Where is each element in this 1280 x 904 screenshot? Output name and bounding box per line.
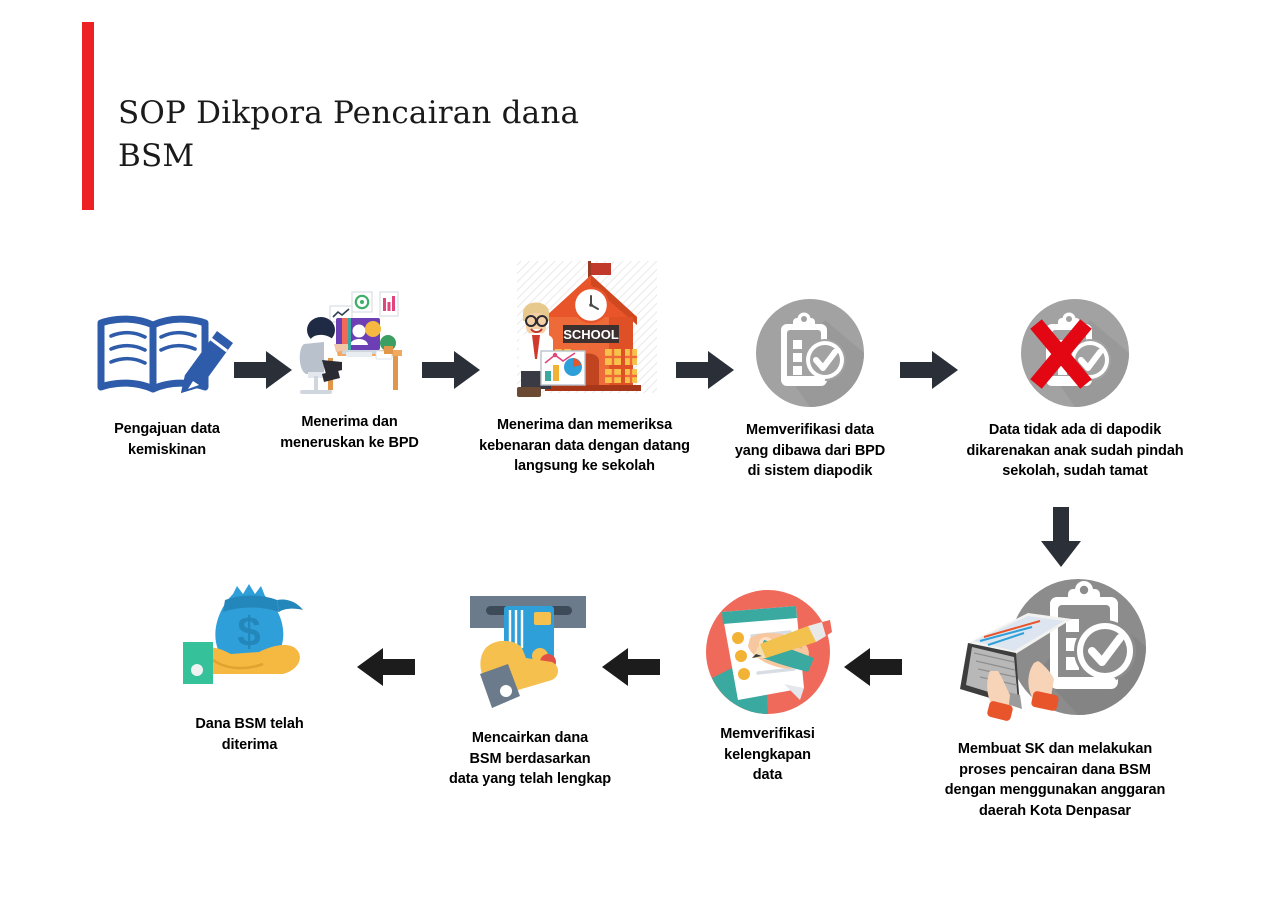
- svg-text:SCHOOL: SCHOOL: [563, 327, 619, 342]
- flow-step-5-label: Data tidak ada di dapodik dikarenakan an…: [925, 420, 1225, 482]
- arrow-6-7: [842, 645, 904, 689]
- flow-step-6: Membuat SK dan melakukan proses pencaira…: [905, 575, 1205, 821]
- flow-step-8-label: Mencairkan dana BSM berdasarkan data yan…: [425, 728, 635, 790]
- arrow-8-9: [355, 645, 417, 689]
- laptop-clipboard-check-icon: [950, 575, 1160, 735]
- school-building-icon: SCHOOL: [501, 255, 669, 405]
- open-book-pencil-icon: [93, 305, 241, 405]
- title-accent-bar: [82, 22, 94, 210]
- svg-text:$: $: [237, 608, 260, 655]
- flow-step-4-label: Memverifikasi data yang dibawa dari BPD …: [710, 420, 910, 482]
- clipboard-check-circle-icon: [755, 298, 865, 408]
- atm-card-hand-icon: [464, 592, 596, 712]
- flow-step-6-label: Membuat SK dan melakukan proses pencaira…: [905, 739, 1205, 821]
- flow-step-7-label: Memverifikasi kelengkapan data: [700, 724, 835, 786]
- flow-step-9: $ Dana BSM telah diterima: [172, 572, 327, 755]
- flow-step-1-label: Pengajuan data kemiskinan: [72, 419, 262, 460]
- arrow-5-6: [1038, 505, 1084, 569]
- checklist-pencil-circle-icon: [704, 588, 832, 716]
- flow-step-8: Mencairkan dana BSM berdasarkan data yan…: [425, 592, 635, 790]
- flow-step-9-label: Dana BSM telah diterima: [172, 714, 327, 755]
- flow-step-3-label: Menerima dan memeriksa kebenaran data de…: [452, 415, 717, 477]
- flow-step-2: Menerima dan meneruskan ke BPD: [262, 288, 437, 453]
- desk-workstation-icon: [290, 288, 410, 400]
- flow-step-2-label: Menerima dan meneruskan ke BPD: [262, 412, 437, 453]
- flow-step-5: Data tidak ada di dapodik dikarenakan an…: [925, 298, 1225, 482]
- flow-step-4: Memverifikasi data yang dibawa dari BPD …: [710, 298, 910, 482]
- money-bag-hand-icon: $: [175, 572, 325, 700]
- clipboard-check-rejected-icon: [1020, 298, 1130, 408]
- flow-step-7: Memverifikasi kelengkapan data: [700, 588, 835, 786]
- page-title: SOP Dikpora Pencairan dana BSM: [118, 92, 738, 178]
